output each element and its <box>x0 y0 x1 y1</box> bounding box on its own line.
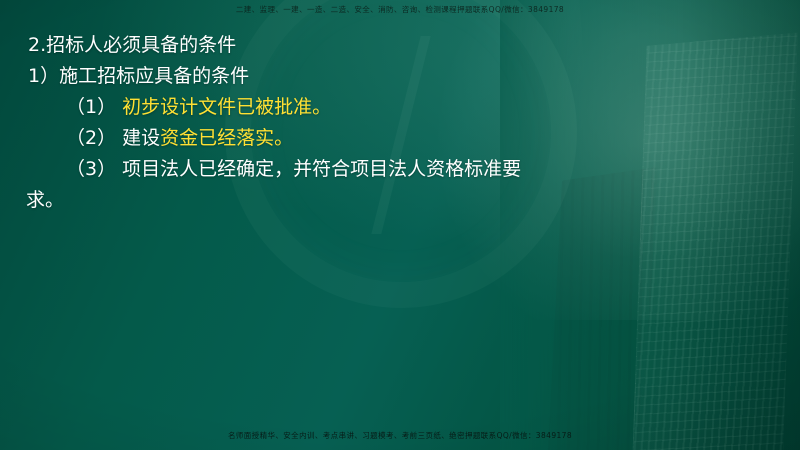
list-item-continuation: 求。 <box>0 185 800 216</box>
list-item-marker: （2） <box>66 127 116 149</box>
list-item-marker: （1） <box>66 96 116 118</box>
presentation-slide: 二建、监理、一建、一造、二造、安全、消防、咨询、检测课程押题联系QQ/微信：38… <box>0 0 800 450</box>
slide-subheading: 1）施工招标应具备的条件 <box>0 61 800 92</box>
slide-body: 2.招标人必须具备的条件 1）施工招标应具备的条件 （1） 初步设计文件已被批准… <box>0 30 800 216</box>
list-item: （1） 初步设计文件已被批准。 <box>0 92 800 123</box>
top-banner-text: 二建、监理、一建、一造、二造、安全、消防、咨询、检测课程押题联系QQ/微信：38… <box>0 5 800 15</box>
list-item-highlight-text: 资金已经落实。 <box>160 127 293 149</box>
list-item-highlight-text: 初步设计文件已被批准。 <box>122 96 331 118</box>
slide-heading: 2.招标人必须具备的条件 <box>0 30 800 61</box>
bottom-banner-text: 名师面授精华、安全内训、考点串讲、习题模考、考前三页纸、绝密押题联系QQ/微信：… <box>0 431 800 441</box>
list-item: （2） 建设资金已经落实。 <box>0 123 800 154</box>
list-item-plain-text: 建设 <box>122 127 160 149</box>
list-item: （3） 项目法人已经确定，并符合项目法人资格标准要 <box>0 154 800 185</box>
list-item-plain-text: 项目法人已经确定，并符合项目法人资格标准要 <box>122 158 521 180</box>
list-item-marker: （3） <box>66 158 116 180</box>
